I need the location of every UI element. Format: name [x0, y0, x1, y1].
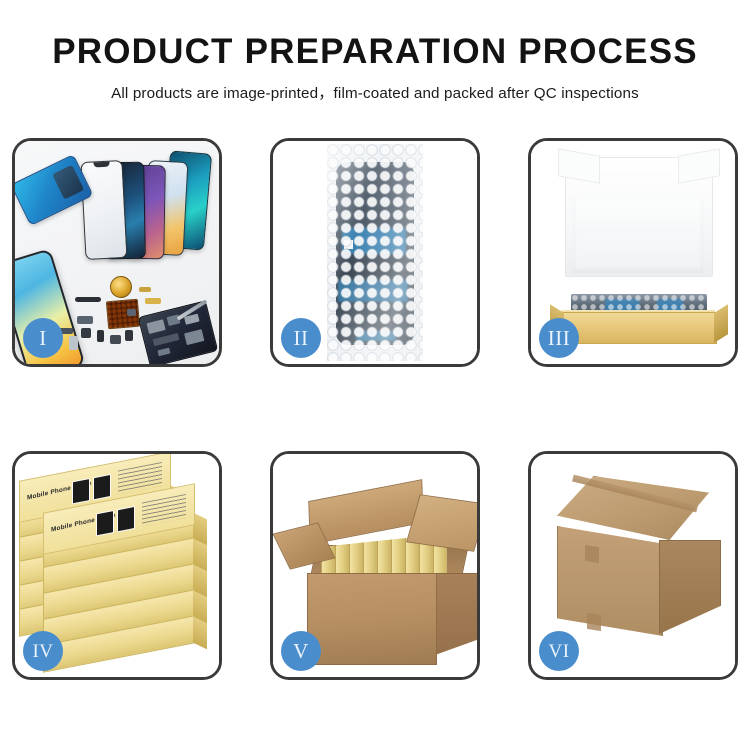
box-product-thumbnail — [117, 506, 135, 532]
process-step-grid: I II — [12, 138, 738, 680]
phone-screen-1 — [80, 160, 127, 260]
product-preparation-infographic: PRODUCT PREPARATION PROCESS All products… — [0, 0, 750, 750]
box-product-thumbnail — [93, 474, 111, 500]
process-step-panel-3: III — [528, 138, 738, 367]
spare-part-gold-contact — [145, 298, 161, 304]
spare-part-sim-tray — [69, 336, 78, 350]
spare-part-chip — [81, 328, 91, 338]
spare-part-camera — [110, 335, 121, 344]
carton-front-panel — [307, 573, 437, 665]
step-badge-2: II — [281, 318, 321, 358]
part-white-tab — [344, 240, 353, 249]
process-step-panel-2: II — [270, 138, 480, 367]
box-spec-text-block — [142, 494, 186, 527]
gold-coil-part — [110, 276, 132, 298]
spare-part-connector — [75, 297, 101, 302]
process-step-panel-6: VI — [528, 451, 738, 680]
part-blue-highlight-3 — [356, 331, 396, 341]
carton-flap-right — [406, 494, 477, 552]
step-badge-5: V — [281, 631, 321, 671]
page-title: PRODUCT PREPARATION PROCESS — [0, 34, 750, 71]
process-step-panel-5: V — [270, 451, 480, 680]
spare-part-flex — [77, 316, 93, 324]
spare-part-speaker — [125, 330, 133, 341]
step-badge-3: III — [539, 318, 579, 358]
sealed-carton-front — [557, 526, 663, 636]
part-blue-highlight-2 — [338, 280, 408, 302]
step-badge-6: VI — [539, 631, 579, 671]
box-spec-text-block — [118, 462, 162, 495]
bubble-wrap-bag — [327, 144, 423, 361]
box-product-thumbnail — [96, 510, 114, 536]
wrapped-phone-part — [336, 162, 414, 345]
box-product-thumbnail — [72, 478, 90, 504]
spare-part-gold-strip — [139, 287, 151, 292]
page-subtitle: All products are image-printed，film-coat… — [0, 81, 750, 103]
header: PRODUCT PREPARATION PROCESS All products… — [0, 34, 750, 103]
spare-part-shield — [127, 309, 136, 316]
carton-edge-tab-top — [585, 545, 599, 563]
step-badge-4: IV — [23, 631, 63, 671]
spare-part-button — [97, 330, 104, 342]
carton-edge-tab-bottom — [587, 613, 601, 631]
white-foam-liner — [573, 199, 703, 273]
process-step-panel-4: Mobile Phone Spare Parts Mobile Phone Sp… — [12, 451, 222, 680]
process-step-panel-1: I — [12, 138, 222, 367]
kraft-box-front — [561, 312, 717, 344]
step-badge-1: I — [23, 318, 63, 358]
